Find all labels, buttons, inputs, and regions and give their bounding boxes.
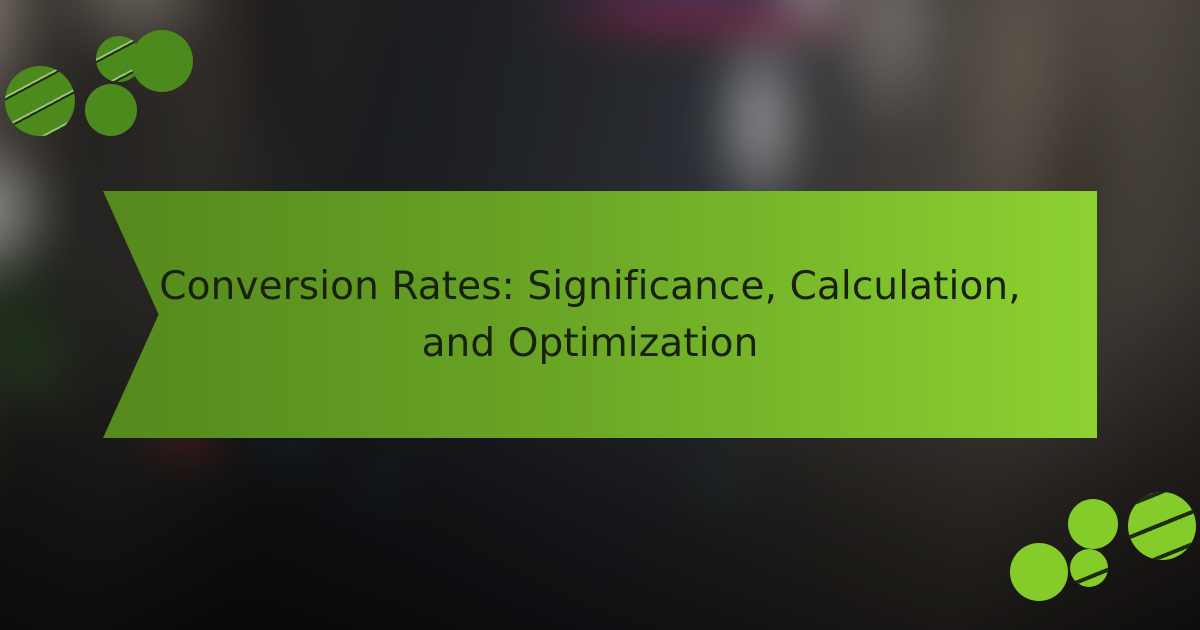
circle-striped-large xyxy=(1128,492,1196,560)
banner-canvas: Conversion Rates: Significance, Calculat… xyxy=(0,0,1200,630)
page-title-line-2: and Optimization xyxy=(422,315,759,372)
circle-striped-large xyxy=(5,66,75,136)
circle-plain-large xyxy=(1010,543,1068,601)
circle-plain-small xyxy=(85,84,137,136)
circle-plain-medium xyxy=(1068,499,1118,549)
title-block: Conversion Rates: Significance, Calculat… xyxy=(103,191,1097,438)
title-ribbon: Conversion Rates: Significance, Calculat… xyxy=(103,191,1097,438)
page-title-line-1: Conversion Rates: Significance, Calculat… xyxy=(159,258,1020,315)
circle-plain-large xyxy=(131,30,193,92)
circle-striped-small xyxy=(1070,549,1108,587)
